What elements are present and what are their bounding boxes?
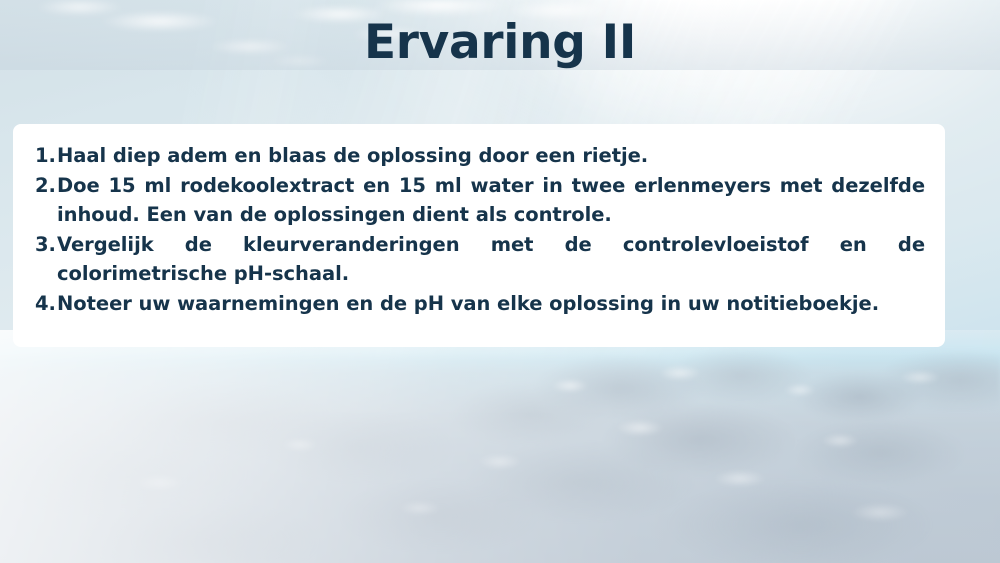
underwater-haze-overlay (0, 330, 1000, 563)
list-item-text: Haal diep adem en blaas de oplossing doo… (57, 144, 648, 167)
instruction-list: Haal diep adem en blaas de oplossing doo… (35, 141, 925, 318)
list-item: Noteer uw waarnemingen en de pH van elke… (35, 289, 925, 319)
coral-highlights-icon (0, 352, 1000, 563)
list-item: Haal diep adem en blaas de oplossing doo… (35, 141, 925, 171)
content-card: Haal diep adem en blaas de oplossing doo… (13, 124, 945, 347)
seafloor-base (0, 352, 1000, 563)
list-item: Doe 15 ml rodekoolextract en 15 ml water… (35, 171, 925, 230)
list-item: Vergelijk de kleurveranderingen met de c… (35, 230, 925, 289)
slide-canvas: Ervaring II Haal diep adem en blaas de o… (0, 0, 1000, 563)
slide-title: Ervaring II (0, 16, 1000, 71)
list-item-text: Doe 15 ml rodekoolextract en 15 ml water… (57, 174, 925, 227)
coral-rocks-icon (0, 350, 1000, 563)
list-item-text: Noteer uw waarnemingen en de pH van elke… (57, 292, 879, 315)
list-item-text: Vergelijk de kleurveranderingen met de c… (57, 233, 925, 286)
